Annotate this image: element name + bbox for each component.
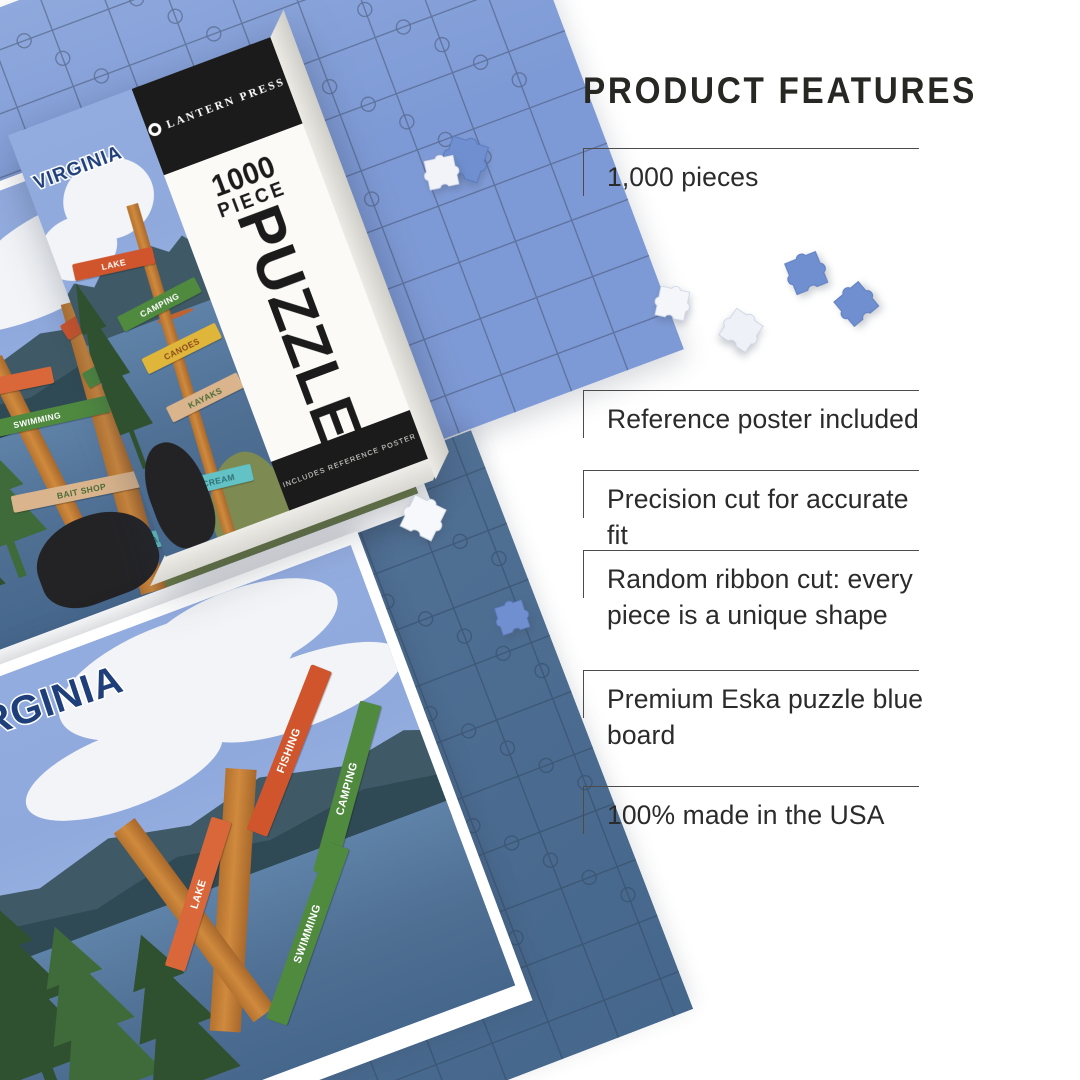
panel-title: PRODUCT FEATURES — [583, 72, 943, 109]
lantern-press-logo-icon — [147, 121, 164, 138]
feature-tick — [583, 786, 584, 834]
feature-text: Premium Eska puzzle blue board — [607, 681, 927, 753]
brand-name: LANTERN PRESS — [165, 75, 287, 130]
feature-rule — [583, 670, 919, 671]
product-photo: FISHING LAKE CAMPING SWIMMING CANOES KAY… — [0, 0, 600, 1080]
product-features-panel: PRODUCT FEATURES — [583, 72, 983, 109]
feature-rule — [583, 148, 919, 149]
feature-rule — [583, 550, 919, 551]
loose-puzzle-piece — [412, 148, 469, 203]
feature-rule — [583, 786, 919, 787]
feature-rule — [583, 390, 919, 391]
feature-tick — [583, 470, 584, 518]
product-feature-image: FISHING LAKE CAMPING SWIMMING CANOES KAY… — [0, 0, 1080, 1080]
feature-tick — [583, 670, 584, 718]
loose-puzzle-piece — [702, 296, 773, 367]
brand-lockup: LANTERN PRESS — [145, 74, 289, 138]
feature-tick — [583, 148, 584, 196]
loose-puzzle-piece — [642, 278, 699, 333]
feature-text: Random ribbon cut: every piece is a uniq… — [607, 561, 927, 633]
feature-rule — [583, 470, 919, 471]
feature-tick — [583, 390, 584, 438]
feature-tick — [583, 550, 584, 598]
feature-text: 1,000 pieces — [607, 159, 927, 195]
feature-text: Reference poster included — [607, 401, 927, 437]
feature-text: Precision cut for accurate fit — [607, 481, 927, 553]
feature-text: 100% made in the USA — [607, 797, 927, 833]
